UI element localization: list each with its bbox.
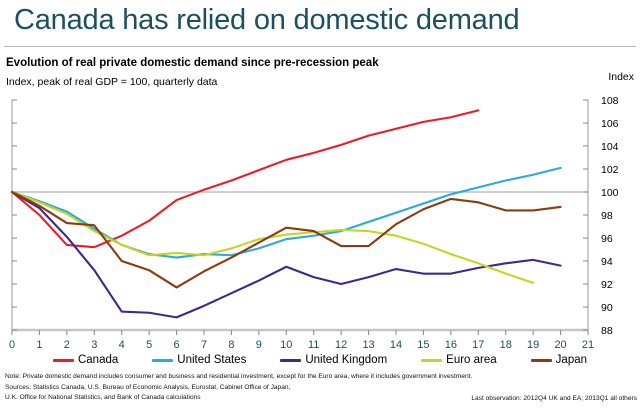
y-axis-unit-label: Index (608, 71, 634, 83)
y-tick-label: 90 (601, 302, 613, 314)
x-tick-label: 18 (500, 339, 512, 350)
x-tick-label: 0 (9, 339, 15, 350)
y-tick-label: 94 (601, 256, 613, 268)
legend-swatch-icon (152, 359, 173, 362)
x-tick-label: 11 (308, 339, 319, 350)
legend-swatch-icon (280, 359, 301, 362)
y-tick-label: 108 (601, 95, 619, 107)
legend-item-japan[interactable]: Japan (531, 354, 587, 366)
y-tick-label: 104 (601, 141, 619, 153)
line-chart-svg: 8890929496981001021041061080123456789101… (0, 92, 640, 350)
y-tick-label: 96 (601, 233, 613, 245)
y-tick-label: 102 (601, 164, 619, 176)
x-tick-label: 16 (445, 339, 457, 350)
legend-label: Japan (556, 354, 587, 366)
title-divider (4, 46, 636, 47)
y-tick-label: 100 (601, 187, 619, 199)
legend-item-united-states[interactable]: United States (152, 354, 246, 366)
chart-plot-area: 8890929496981001021041061080123456789101… (0, 92, 640, 350)
slide-root: Canada has relied on domestic demand Evo… (0, 0, 640, 413)
chart-subtitle: Index, peak of real GDP = 100, quarterly… (6, 76, 217, 88)
series-line-canada (12, 110, 478, 247)
x-tick-label: 21 (582, 339, 594, 350)
legend-item-canada[interactable]: Canada (53, 354, 118, 366)
y-tick-label: 88 (601, 325, 613, 337)
x-tick-label: 15 (417, 339, 429, 350)
chart-legend: CanadaUnited StatesUnited KingdomEuro ar… (0, 350, 640, 370)
series-line-united-kingdom (12, 192, 561, 317)
legend-label: United Kingdom (305, 354, 387, 366)
y-tick-label: 98 (601, 210, 613, 222)
legend-swatch-icon (531, 359, 552, 362)
x-tick-label: 1 (36, 339, 42, 350)
x-tick-label: 13 (362, 339, 374, 350)
y-tick-label: 92 (601, 279, 613, 291)
x-tick-label: 2 (64, 339, 70, 350)
footnote-note: Note: Private domestic demand includes c… (5, 372, 635, 383)
footnote-sources-line-1: Sources: Statistics Canada, U.S. Bureau … (5, 383, 635, 394)
x-tick-label: 4 (119, 339, 125, 350)
x-tick-label: 19 (527, 339, 539, 350)
x-tick-label: 6 (174, 339, 180, 350)
legend-swatch-icon (421, 359, 442, 362)
last-observation-note: Last observation: 2012Q4 UK and EA; 2013… (471, 395, 637, 402)
legend-label: Canada (78, 354, 118, 366)
x-tick-label: 12 (335, 339, 347, 350)
series-line-euro-area (12, 192, 533, 283)
x-tick-label: 8 (228, 339, 234, 350)
legend-label: Euro area (446, 354, 497, 366)
x-tick-label: 10 (280, 339, 292, 350)
x-tick-label: 14 (390, 339, 402, 350)
x-tick-label: 5 (146, 339, 152, 350)
x-tick-label: 7 (201, 339, 207, 350)
chart-title: Evolution of real private domestic deman… (6, 57, 379, 69)
x-tick-label: 17 (472, 339, 484, 350)
legend-item-euro-area[interactable]: Euro area (421, 354, 497, 366)
x-tick-label: 20 (554, 339, 566, 350)
y-tick-label: 106 (601, 118, 619, 130)
series-line-united-states (12, 168, 561, 258)
x-tick-label: 3 (91, 339, 97, 350)
page-title: Canada has relied on domestic demand (14, 4, 519, 37)
legend-label: United States (177, 354, 246, 366)
legend-swatch-icon (53, 359, 74, 362)
x-tick-label: 9 (256, 339, 262, 350)
legend-item-united-kingdom[interactable]: United Kingdom (280, 354, 387, 366)
